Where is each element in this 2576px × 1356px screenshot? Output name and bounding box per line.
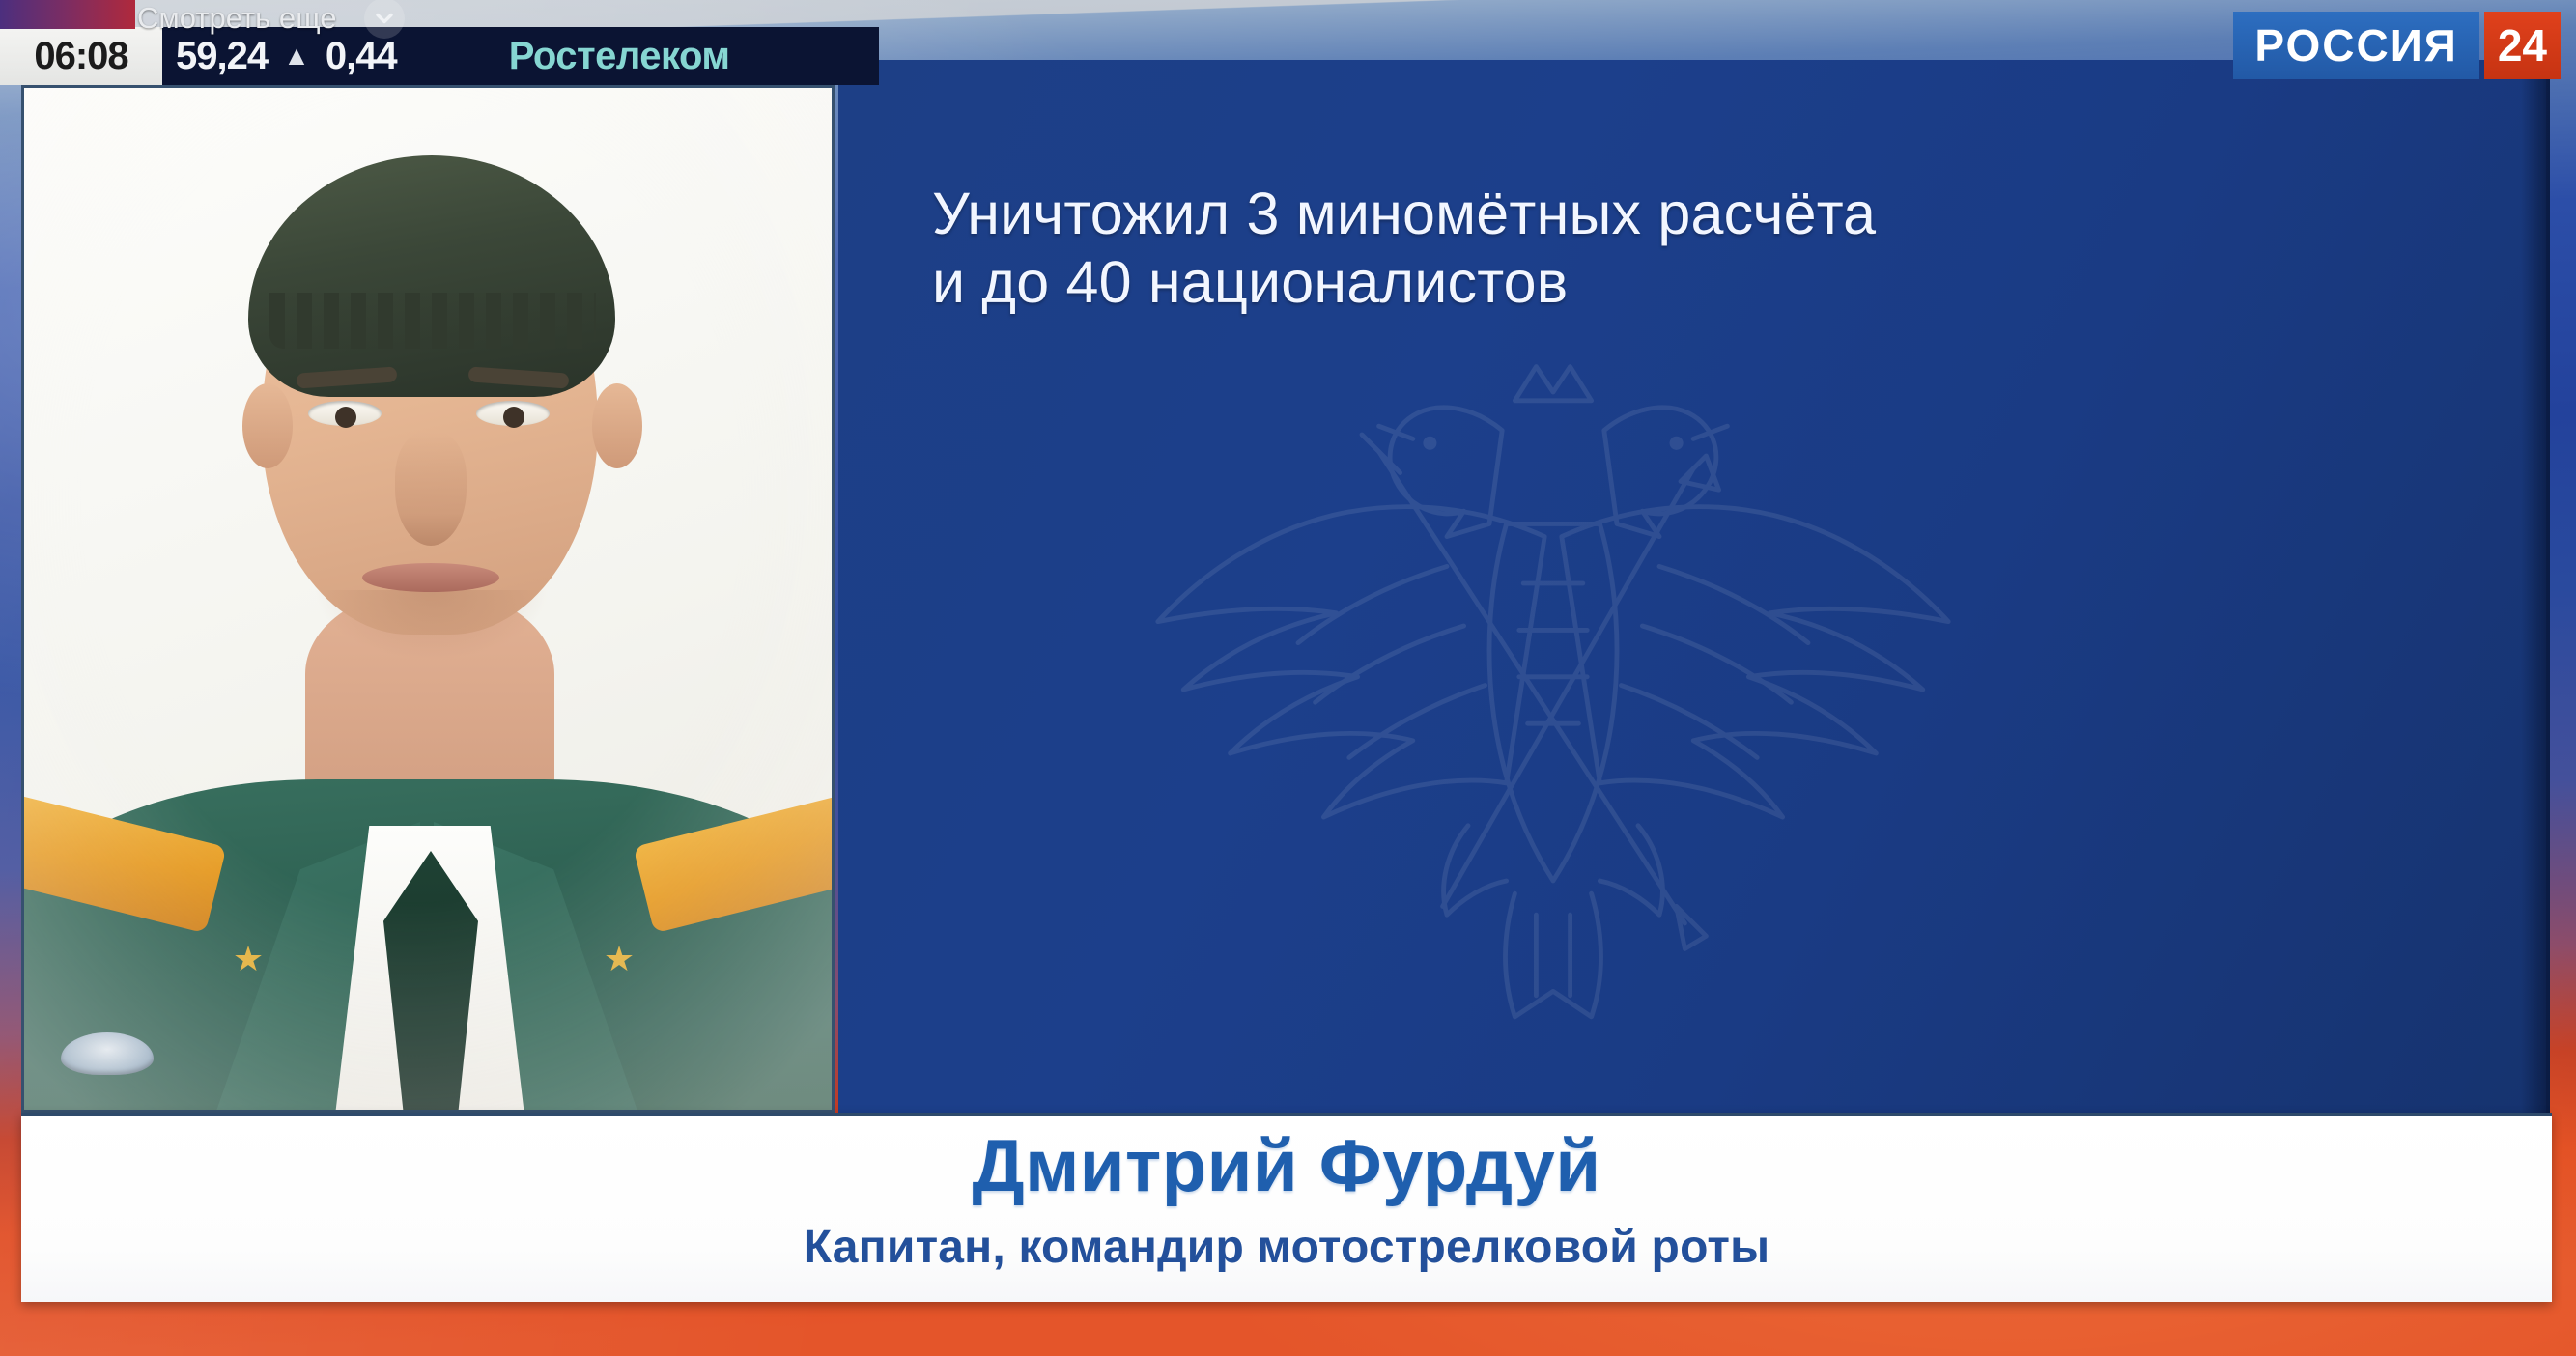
chevron-down-icon[interactable] xyxy=(364,0,405,39)
channel-logo-name: РОССИЯ xyxy=(2233,12,2478,79)
stock-ticker: 06:08 59,24 ▲ 0,44 Ростелеком xyxy=(0,27,879,85)
headline-line-1: Уничтожил 3 миномётных расчёта xyxy=(932,180,2381,248)
ticker-up-arrow-icon: ▲ xyxy=(283,42,310,70)
broadcast-screenshot: Уничтожил 3 миномётных расчёта и до 40 н… xyxy=(0,0,2576,1356)
portrait-photo: ★ ★ xyxy=(21,85,835,1113)
ticker-company: Ростелеком xyxy=(509,35,730,78)
person-name: Дмитрий Фурдуй xyxy=(21,1130,2552,1203)
headline: Уничтожил 3 миномётных расчёта и до 40 н… xyxy=(932,180,2381,317)
watch-more-control[interactable]: Смотреть еще xyxy=(137,0,405,37)
channel-logo-number: 24 xyxy=(2484,12,2561,79)
video-progress-bar[interactable] xyxy=(0,0,135,29)
ticker-value: 59,24 xyxy=(176,35,268,78)
panel-edge-shadow xyxy=(2521,60,2550,1113)
watch-more-label: Смотреть еще xyxy=(137,1,337,36)
portrait-canvas: ★ ★ xyxy=(24,88,832,1110)
headline-line-2: и до 40 националистов xyxy=(932,248,2381,317)
lower-third-banner: Дмитрий Фурдуй Капитан, командир мотостр… xyxy=(21,1113,2552,1302)
double-headed-eagle-emblem-icon xyxy=(1128,282,1978,1055)
portrait-vignette xyxy=(24,88,832,1110)
ticker-change: 0,44 xyxy=(326,35,397,78)
channel-logo: РОССИЯ 24 xyxy=(2233,12,2561,79)
person-title: Капитан, командир мотострелковой роты xyxy=(21,1225,2552,1271)
